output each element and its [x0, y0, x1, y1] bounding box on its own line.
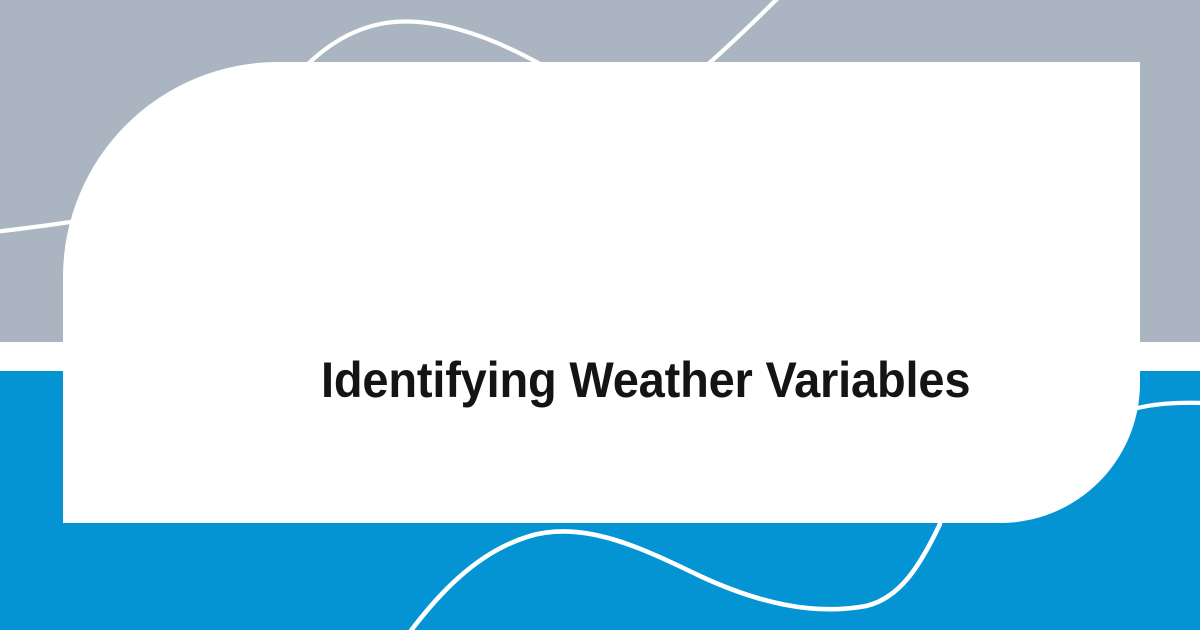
page-title: Identifying Weather Variables [321, 354, 970, 407]
page-title-container: Identifying Weather Variables [321, 350, 1181, 410]
title-card: Identifying Weather Variables [63, 62, 1140, 523]
bottom-wave-line [404, 524, 940, 630]
top-diagonal-line [706, 0, 782, 66]
banner-canvas: Identifying Weather Variables [0, 0, 1200, 630]
